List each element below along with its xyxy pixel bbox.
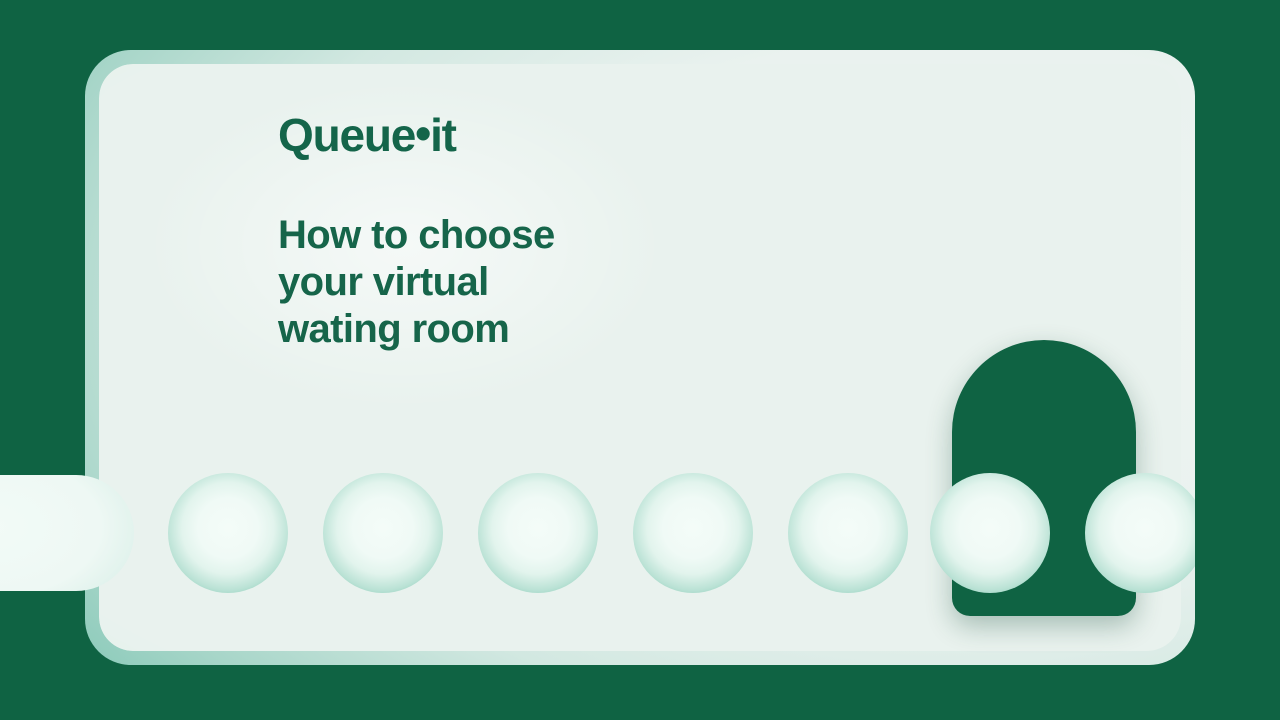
slide-headline: How to choose your virtual wating room bbox=[278, 212, 758, 354]
headline-line-2: your virtual bbox=[278, 259, 758, 306]
card-graphics-clip bbox=[85, 50, 1195, 665]
logo-dot-separator: • bbox=[415, 110, 430, 156]
slide-canvas: Queue•it How to choose your virtual wati… bbox=[0, 0, 1280, 720]
queue-it-logo: Queue•it bbox=[278, 110, 456, 158]
headline-line-3: wating room bbox=[278, 306, 758, 353]
logo-text-queue: Queue bbox=[278, 109, 415, 161]
queue-circle-7 bbox=[1085, 473, 1195, 593]
logo-text-it: it bbox=[430, 109, 456, 161]
queue-circle-6 bbox=[930, 473, 1050, 593]
headline-line-1: How to choose bbox=[278, 212, 758, 259]
